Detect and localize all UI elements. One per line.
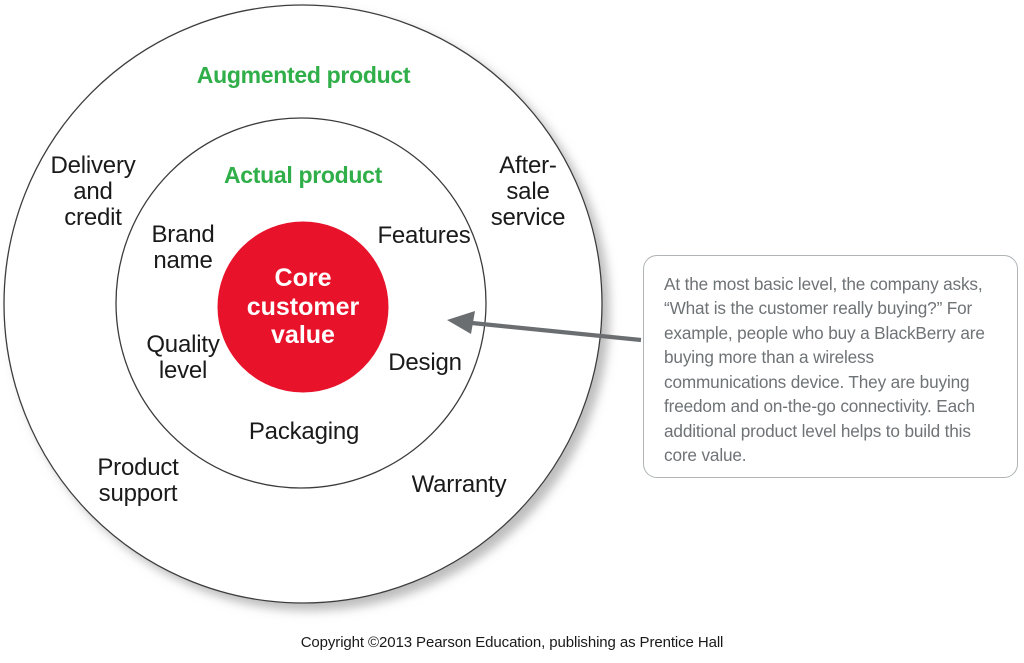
attribute-after-sale-service: After- sale service <box>468 153 588 231</box>
attribute-design: Design <box>377 350 473 376</box>
attribute-delivery-and-credit: Delivery and credit <box>30 153 156 231</box>
figure-canvas: Augmented product Actual product Core cu… <box>0 0 1024 663</box>
callout-text: At the most basic level, the company ask… <box>664 272 999 467</box>
copyright-notice: Copyright ©2013 Pearson Education, publi… <box>0 634 1024 651</box>
attribute-brand-name: Brand name <box>132 222 234 274</box>
attribute-packaging: Packaging <box>233 419 375 445</box>
actual-product-title: Actual product <box>148 163 458 188</box>
attribute-product-support: Product support <box>72 455 204 507</box>
augmented-product-title: Augmented product <box>131 63 476 88</box>
callout-box: At the most basic level, the company ask… <box>643 255 1018 478</box>
callout-arrow <box>447 311 641 340</box>
core-customer-value-label: Core customer value <box>218 264 388 350</box>
attribute-features: Features <box>368 223 480 249</box>
attribute-quality-level: Quality level <box>131 332 235 384</box>
attribute-warranty: Warranty <box>395 472 523 498</box>
